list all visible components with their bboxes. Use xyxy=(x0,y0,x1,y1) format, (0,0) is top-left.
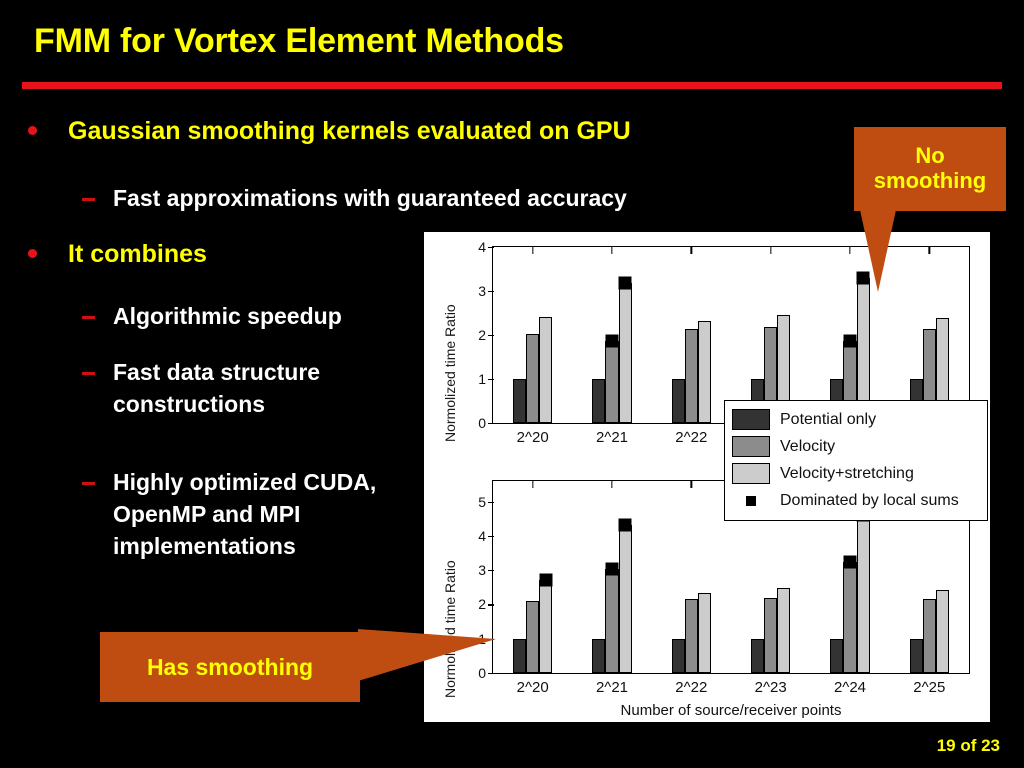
bar xyxy=(672,379,685,423)
local-sums-marker-icon xyxy=(539,574,552,587)
bar xyxy=(685,599,698,673)
bar xyxy=(857,515,870,673)
bullet-text: Highly optimized CUDA, OpenMP and MPI im… xyxy=(113,469,376,559)
figure-panel: Normolized time Ratio 012342^202^212^222… xyxy=(424,232,990,722)
y-tick-label: 1 xyxy=(478,371,493,387)
callout-has-smoothing[interactable]: Has smoothing xyxy=(100,632,360,702)
bar xyxy=(619,283,632,423)
legend-label: Velocity+stretching xyxy=(780,465,914,483)
x-tick-label: 2^20 xyxy=(517,673,549,696)
page-number: 19 of 23 xyxy=(937,736,1000,756)
bar xyxy=(910,639,923,673)
x-tick-mark xyxy=(849,247,850,254)
bar xyxy=(539,317,552,423)
y-tick-label: 5 xyxy=(478,494,493,510)
x-tick-label: 2^22 xyxy=(675,673,707,696)
local-sums-marker-icon xyxy=(619,277,632,290)
bar xyxy=(605,569,618,673)
x-tick-mark xyxy=(532,481,533,488)
x-tick-label: 2^21 xyxy=(596,673,628,696)
callout-pointer-no-smoothing xyxy=(860,210,896,292)
x-tick-label: 2^25 xyxy=(913,673,945,696)
x-tick-mark xyxy=(691,247,692,254)
y-axis-label: Normolized time Ratio xyxy=(442,304,458,442)
legend-swatch-icon xyxy=(732,436,770,457)
bar xyxy=(526,601,539,673)
y-tick-label: 4 xyxy=(478,528,493,544)
bar xyxy=(513,639,526,673)
y-tick-label: 2 xyxy=(478,327,493,343)
x-tick-label: 2^23 xyxy=(755,673,787,696)
bar xyxy=(936,590,949,673)
x-tick-mark xyxy=(691,481,692,488)
legend-item: Dominated by local sums xyxy=(732,487,980,514)
legend-item: Velocity xyxy=(732,433,980,460)
x-tick-mark xyxy=(929,247,930,254)
bar xyxy=(539,580,552,673)
bar xyxy=(592,639,605,673)
local-sums-marker-icon xyxy=(844,555,857,568)
local-sums-marker-icon xyxy=(619,518,632,531)
bullet-text: Fast approximations with guaranteed accu… xyxy=(113,185,627,211)
bullet-dash-icon xyxy=(82,372,95,375)
bullet-level1-gaussian: Gaussian smoothing kernels evaluated on … xyxy=(68,117,631,146)
x-tick-mark xyxy=(611,247,612,254)
callout-pointer-has-smoothing xyxy=(358,629,496,681)
square-marker-icon xyxy=(746,496,756,506)
legend-label: Potential only xyxy=(780,411,876,429)
legend-label: Velocity xyxy=(780,438,835,456)
local-sums-marker-icon xyxy=(606,334,619,347)
legend-item: Potential only xyxy=(732,406,980,433)
bar xyxy=(764,598,777,673)
legend-swatch-icon xyxy=(732,463,770,484)
bar xyxy=(685,329,698,423)
bullet-text: Fast data structure constructions xyxy=(113,359,320,417)
bar xyxy=(605,341,618,423)
legend-swatch-icon xyxy=(732,409,770,430)
y-tick-label: 2 xyxy=(478,596,493,612)
bar xyxy=(843,562,856,673)
bullet-level2-algorithmic-speedup: Algorithmic speedup xyxy=(113,300,433,332)
x-tick-mark xyxy=(770,247,771,254)
bullet-text: Gaussian smoothing kernels evaluated on … xyxy=(68,117,631,145)
x-tick-label: 2^20 xyxy=(517,423,549,446)
x-axis-label: Number of source/receiver points xyxy=(492,702,970,719)
bullet-text: It combines xyxy=(68,240,207,268)
bar xyxy=(777,588,790,673)
slide-canvas: FMM for Vortex Element Methods Gaussian … xyxy=(0,0,1024,768)
x-tick-label: 2^24 xyxy=(834,673,866,696)
callout-text: Has smoothing xyxy=(147,654,313,680)
bar xyxy=(672,639,685,673)
callout-no-smoothing[interactable]: No smoothing xyxy=(854,127,1006,211)
bullet-dot-icon xyxy=(28,249,37,258)
y-tick-label: 3 xyxy=(478,283,493,299)
y-tick-label: 0 xyxy=(478,415,493,431)
bar xyxy=(592,379,605,423)
title-divider xyxy=(22,82,1002,89)
bar xyxy=(698,593,711,673)
bar xyxy=(751,639,764,673)
page-title: FMM for Vortex Element Methods xyxy=(34,22,564,61)
bullet-dash-icon xyxy=(82,198,95,201)
bar xyxy=(526,334,539,423)
x-tick-label: 2^22 xyxy=(675,423,707,446)
y-tick-label: 4 xyxy=(478,239,493,255)
bullet-dash-icon xyxy=(82,316,95,319)
bullet-level2-highly-optimized: Highly optimized CUDA, OpenMP and MPI im… xyxy=(113,466,433,562)
local-sums-marker-icon xyxy=(844,334,857,347)
x-tick-label: 2^21 xyxy=(596,423,628,446)
bullet-dash-icon xyxy=(82,482,95,485)
y-tick-label: 3 xyxy=(478,562,493,578)
plot-area-top: 012342^202^212^222^232^242^25 xyxy=(492,246,970,424)
legend-item: Velocity+stretching xyxy=(732,460,980,487)
legend-label: Dominated by local sums xyxy=(780,492,959,510)
bullet-level2-fast-approximations: Fast approximations with guaranteed accu… xyxy=(113,182,627,214)
bar xyxy=(830,639,843,673)
bullet-level1-it-combines: It combines xyxy=(68,240,207,269)
local-sums-marker-icon xyxy=(606,563,619,576)
chart-legend: Potential onlyVelocityVelocity+stretchin… xyxy=(724,400,988,521)
bullet-dot-icon xyxy=(28,126,37,135)
bullet-level2-fast-data-structure: Fast data structure constructions xyxy=(113,356,413,420)
bar xyxy=(513,379,526,423)
callout-text: No smoothing xyxy=(862,144,998,194)
bar xyxy=(923,599,936,673)
x-tick-mark xyxy=(532,247,533,254)
legend-marker-icon xyxy=(732,490,770,511)
bar xyxy=(619,525,632,673)
bullet-text: Algorithmic speedup xyxy=(113,303,342,329)
bar xyxy=(698,321,711,423)
x-tick-mark xyxy=(611,481,612,488)
